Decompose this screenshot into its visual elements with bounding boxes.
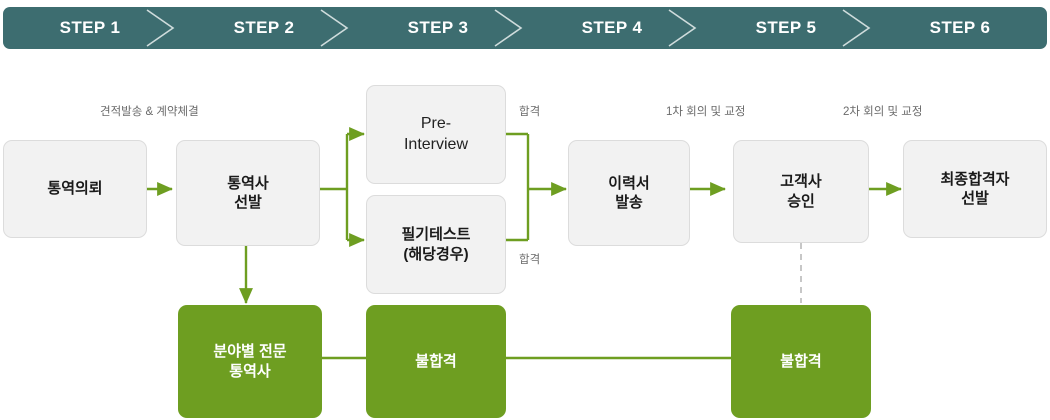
edge-label-pass-top: 합격 (519, 107, 540, 119)
node-label: 통역의뢰 (47, 179, 102, 198)
node-final-candidate-selection[interactable]: 최종합격자 선발 (903, 140, 1047, 238)
node-label: 불합격 (415, 352, 456, 371)
step-item-6[interactable]: STEP 6 (873, 7, 1047, 49)
edge-label-review-round-2: 2차 회의 및 교정 (843, 107, 922, 119)
edge-label-pass-bottom: 합격 (519, 255, 540, 267)
step-item-5[interactable]: STEP 5 (699, 7, 873, 49)
node-fail-right[interactable]: 불합격 (731, 305, 871, 418)
node-client-approval[interactable]: 고객사 승인 (733, 140, 869, 243)
node-fail-left[interactable]: 불합격 (366, 305, 506, 418)
flowchart-canvas: STEP 1 STEP 2 STEP 3 STEP 4 STEP 5 STEP … (0, 0, 1050, 420)
step-label: STEP 6 (930, 18, 991, 38)
step-item-1[interactable]: STEP 1 (3, 7, 177, 49)
step-item-2[interactable]: STEP 2 (177, 7, 351, 49)
edge-label-review-round-1: 1차 회의 및 교정 (666, 107, 745, 119)
node-label: 필기테스트 (해당경우) (401, 225, 470, 263)
node-label: Pre- Interview (404, 114, 468, 155)
node-label: 통역사 선발 (227, 174, 268, 212)
node-interpretation-request[interactable]: 통역의뢰 (3, 140, 147, 238)
step-progress-bar: STEP 1 STEP 2 STEP 3 STEP 4 STEP 5 STEP … (3, 7, 1047, 49)
node-label: 최종합격자 선발 (940, 170, 1009, 208)
step-label: STEP 2 (234, 18, 295, 38)
node-label: 분야별 전문 통역사 (213, 342, 286, 380)
node-label: 이력서 발송 (608, 174, 649, 212)
node-label: 불합격 (780, 352, 821, 371)
connector-layer (0, 0, 1050, 420)
step-label: STEP 4 (582, 18, 643, 38)
step-label: STEP 5 (756, 18, 817, 38)
step-item-4[interactable]: STEP 4 (525, 7, 699, 49)
node-pre-interview[interactable]: Pre- Interview (366, 85, 506, 184)
step-item-3[interactable]: STEP 3 (351, 7, 525, 49)
step-label: STEP 3 (408, 18, 469, 38)
node-label: 고객사 승인 (780, 172, 821, 210)
node-interpreter-selection[interactable]: 통역사 선발 (176, 140, 320, 246)
node-resume-dispatch[interactable]: 이력서 발송 (568, 140, 690, 246)
edge-label-quote-contract: 견적발송 & 계약체결 (100, 107, 199, 119)
node-field-specialist-interpreters[interactable]: 분야별 전문 통역사 (178, 305, 322, 418)
step-label: STEP 1 (60, 18, 121, 38)
node-written-test[interactable]: 필기테스트 (해당경우) (366, 195, 506, 294)
